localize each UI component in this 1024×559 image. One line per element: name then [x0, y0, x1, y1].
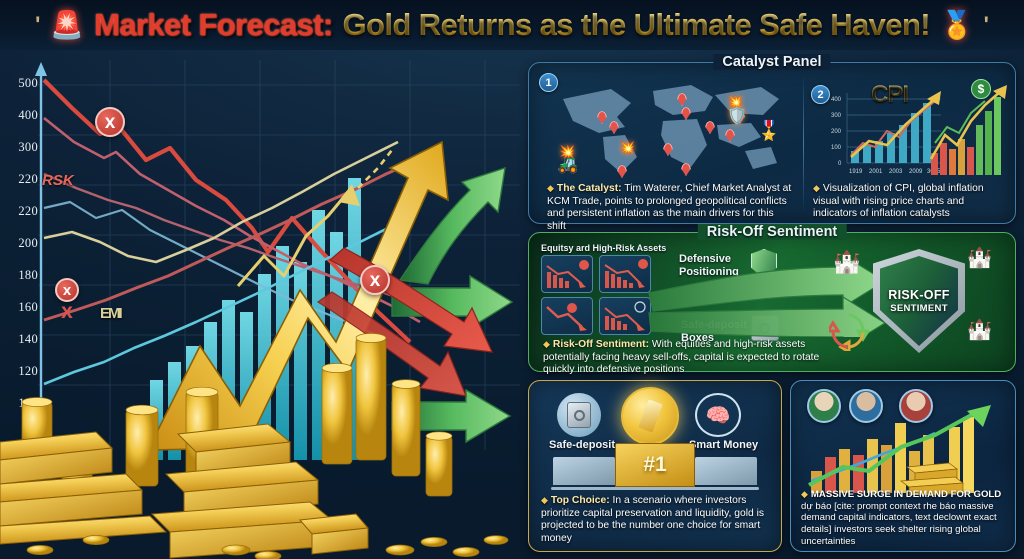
- demand-caption-tail: dự báo: [801, 501, 831, 512]
- badge-1: 1: [539, 73, 558, 92]
- gold-bullion-illustration: [0, 324, 520, 559]
- podium-center: #1: [615, 443, 695, 487]
- risk-off-panel[interactable]: Risk-Off Sentiment Equitsy ard High-Risk…: [528, 232, 1016, 372]
- page-title-red: Market Forecast:: [94, 7, 333, 43]
- shield-line-2: SENTIMENT: [890, 303, 948, 314]
- demand-panel[interactable]: ◆MASSIVE SURGE IN DEMAND FOR GOLD dự báo…: [790, 380, 1016, 552]
- declining-chart-tile: [599, 297, 651, 335]
- dollar-badge-icon: $: [971, 79, 991, 99]
- world-map-icon: [555, 77, 783, 175]
- catalyst-panel-title: Catalyst Panel: [713, 54, 830, 70]
- podium-rank-label: #1: [643, 453, 666, 477]
- castle-icon: 🏰: [967, 317, 992, 342]
- quote-open: ': [35, 12, 40, 38]
- y-tick: 220: [18, 172, 38, 187]
- safe-icon: [557, 393, 601, 437]
- y-tick: 400: [18, 108, 38, 123]
- smart-money-label: Smart Money: [689, 439, 758, 451]
- y-tick: 220: [18, 204, 38, 219]
- demand-chart: [799, 405, 1009, 495]
- demand-caption-bold: MASSIVE SURGE IN DEMAND FOR GOLD: [811, 489, 1001, 500]
- declining-chart-tile: [599, 255, 651, 293]
- svg-text:400: 400: [831, 97, 842, 103]
- svg-text:2001: 2001: [869, 169, 883, 175]
- quote-close: ': [984, 12, 989, 38]
- conflict-pin-icon: [617, 165, 627, 178]
- top-choice-caption-bold: Top Choice:: [551, 495, 610, 506]
- rotation-arrows-icon: [829, 311, 869, 351]
- cpi-mini-chart: 400 300 200 100 0 1919 2001 2003 2009 30…: [825, 85, 945, 179]
- svg-text:2003: 2003: [889, 169, 903, 175]
- page-title-gold: Gold Returns as the Ultimate Safe Haven!: [342, 7, 930, 43]
- castle-icon: 🏰: [833, 249, 860, 275]
- bullet-diamond-icon: ◆: [801, 489, 808, 499]
- soldier-icon: 🎖️: [757, 119, 781, 143]
- risk-off-panel-title: Risk-Off Sentiment: [698, 224, 847, 240]
- tank-icon: 🛡️: [727, 109, 747, 125]
- x-mark-icon: x: [360, 265, 390, 295]
- svg-text:0: 0: [838, 161, 842, 167]
- risk-off-shield: RISK-OFF SENTIMENT: [873, 249, 965, 353]
- main-chart: 500 400 300 220 220 200 180 160 140 120 …: [0, 50, 520, 559]
- x-mark-icon: x: [55, 278, 79, 302]
- y-tick: 500: [18, 76, 38, 91]
- catalyst-caption-bold: The Catalyst:: [557, 183, 622, 194]
- top-choice-panel[interactable]: Safe-deposit 🧠 Smart Money #1 ◆Top Choic…: [528, 380, 782, 552]
- svg-text:300: 300: [831, 113, 842, 119]
- y-tick: 160: [18, 300, 38, 315]
- bullet-diamond-icon: ◆: [547, 183, 554, 193]
- explosion-icon: 💥: [727, 95, 743, 108]
- bullet-diamond-icon: ◆: [543, 339, 550, 349]
- demand-caption: ◆MASSIVE SURGE IN DEMAND FOR GOLD dự báo…: [801, 489, 1011, 548]
- cpi-caption: ◆Visualization of CPI, global inflation …: [813, 183, 1009, 221]
- risk-off-caption-bold: Risk-Off Sentiment:: [553, 339, 649, 350]
- emi-series-label: EMI: [100, 305, 121, 322]
- risk-off-caption: ◆Risk-Off Sentiment: With equities and h…: [543, 339, 823, 377]
- page-header: ' 🚨 Market Forecast: Gold Returns as the…: [0, 0, 1024, 50]
- medal-icon: 🏅: [940, 12, 974, 39]
- x-mark-icon: x: [95, 107, 125, 137]
- y-tick: 180: [18, 268, 38, 283]
- rotating-light-icon: 🚨: [50, 12, 84, 39]
- safe-deposit-label: Safe-deposit: [549, 439, 615, 451]
- castle-icon: 🏰: [967, 245, 992, 270]
- declining-chart-tile: [541, 297, 593, 335]
- explosion-icon: 💥: [619, 141, 635, 154]
- y-tick: 300: [18, 140, 38, 155]
- podium-base: [551, 487, 759, 490]
- gold-coin-icon: [621, 387, 679, 445]
- catalyst-panel[interactable]: Catalyst Panel 1 💥 💥 💥 🛡️ 🚜: [528, 62, 1016, 224]
- badge-2: 2: [811, 85, 830, 104]
- brain-icon: 🧠: [695, 393, 741, 437]
- bullet-diamond-icon: ◆: [541, 495, 548, 505]
- declining-chart-tile: [541, 255, 593, 293]
- cpi-caption-text: Visualization of CPI, global inflation v…: [813, 183, 984, 219]
- svg-text:200: 200: [831, 129, 842, 135]
- panel-divider: [803, 73, 804, 213]
- svg-text:1919: 1919: [849, 169, 863, 175]
- shield-line-1: RISK-OFF: [888, 288, 949, 302]
- inflation-mini-chart: [929, 83, 1011, 179]
- risk-series-label: RSK: [42, 172, 74, 189]
- infographic-root: ' 🚨 Market Forecast: Gold Returns as the…: [0, 0, 1024, 559]
- svg-text:2009: 2009: [909, 169, 923, 175]
- tank-icon: 🚜: [557, 155, 578, 175]
- bullet-diamond-icon: ◆: [813, 183, 820, 193]
- svg-text:100: 100: [831, 145, 842, 151]
- podium-right: [695, 457, 757, 485]
- y-tick: 200: [18, 236, 38, 251]
- x-mark-icon: x: [56, 300, 78, 322]
- top-choice-caption: ◆Top Choice: In a scenario where investo…: [541, 495, 775, 545]
- podium-left: [553, 457, 615, 485]
